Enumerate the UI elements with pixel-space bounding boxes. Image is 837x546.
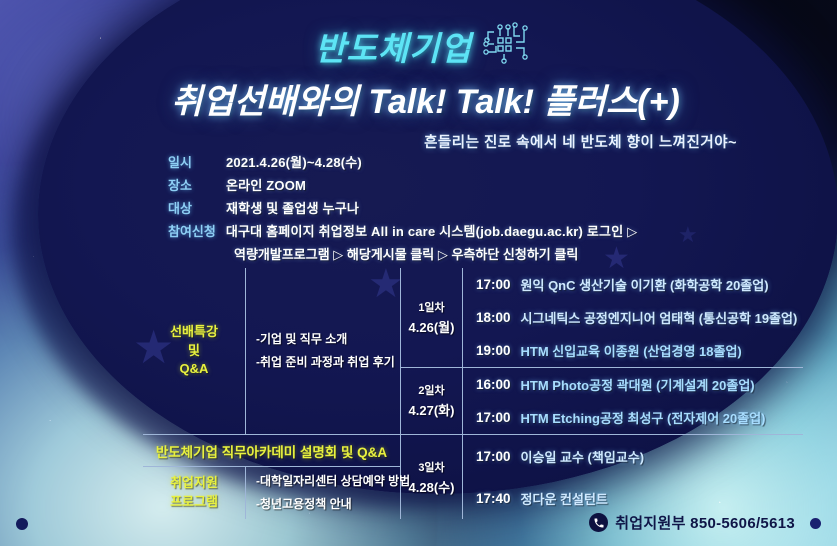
title-block: 반도체기업	[0, 22, 837, 152]
schedule-day3-sessions: 17:00 이승일 교수 (책임교수) 17:40 정다운 컨설턴트	[463, 435, 803, 519]
day-2-number: 2일차	[418, 382, 444, 398]
session-3-desc: HTM 신입교육 이종원 (산업경영 18졸업)	[521, 341, 742, 360]
info-label-audience: 대상	[168, 198, 226, 217]
phone-icon	[589, 513, 608, 532]
info-row-place: 장소 온라인 ZOOM	[168, 175, 808, 194]
day-1-date: 4.26(월)	[409, 317, 455, 336]
session-3-time: 19:00	[476, 343, 511, 358]
session-7-desc: 정다운 컨설턴트	[521, 489, 608, 508]
day-2-date: 4.27(화)	[409, 400, 455, 419]
support-category-cell: 취업지원 프로그램	[143, 467, 246, 519]
schedule-sessions-column: 17:00 원익 QnC 생산기술 이기환 (화학공학 20졸업) 18:00 …	[463, 268, 803, 434]
support-description-cell: -대학일자리센터 상담예약 방법 -청년고용정책 안내	[246, 467, 410, 519]
session-row-2: 18:00 시그네틱스 공정엔지니어 엄태혁 (통신공학 19졸업)	[463, 301, 803, 334]
info-value-audience: 재학생 및 졸업생 누구나	[226, 198, 359, 217]
schedule-category-cell: 선배특강 및 Q&A	[143, 268, 246, 434]
day-cell-2: 2일차 4.27(화)	[401, 367, 462, 433]
category-line-2: 및	[170, 342, 218, 361]
schedule-category-text: 선배특강 및 Q&A	[170, 323, 218, 380]
description-line-1: -기업 및 직무 소개	[256, 328, 400, 351]
info-list: 일시 2021.4.26(월)~4.28(수) 장소 온라인 ZOOM 대상 재…	[168, 152, 808, 263]
day-3-date: 4.28(수)	[409, 477, 455, 496]
support-desc-line-1: -대학일자리센터 상담예약 방법	[256, 470, 410, 493]
schedule-day3-column: 3일차 4.28(수)	[401, 435, 463, 519]
session-row-6: 17:00 이승일 교수 (책임교수)	[463, 435, 803, 477]
academy-title: 반도체기업 직무아카데미 설명회 및 Q&A	[143, 435, 400, 467]
category-line-1: 선배특강	[170, 323, 218, 342]
session-row-4: 16:00 HTM Photo공정 곽대원 (기계설계 20졸업)	[463, 368, 803, 401]
info-row-audience: 대상 재학생 및 졸업생 누구나	[168, 198, 808, 217]
poster-title-line2: 취업선배와의 Talk! Talk! 플러스(+)	[0, 74, 837, 123]
day-3-number: 3일차	[418, 459, 444, 475]
lower-left-group: 반도체기업 직무아카데미 설명회 및 Q&A 취업지원 프로그램 -대학일자리센…	[143, 435, 401, 519]
session-6-time: 17:00	[476, 449, 511, 464]
day-cell-3: 3일차 4.28(수)	[401, 435, 462, 519]
session-5-time: 17:00	[476, 410, 511, 425]
info-apply-continuation: 역량개발프로그램 ▷ 해당게시물 클릭 ▷ 우측하단 신청하기 클릭	[234, 244, 808, 263]
circuit-chip-icon	[480, 22, 532, 66]
poster-subtitle: 흔들리는 진로 속에서 네 반도체 향이 느껴진거야~	[0, 131, 837, 152]
session-7-time: 17:40	[476, 491, 511, 506]
session-row-5: 17:00 HTM Etching공정 최성구 (전자제어 20졸업)	[463, 401, 803, 434]
support-category-line-2: 프로그램	[170, 493, 218, 512]
session-2-time: 18:00	[476, 310, 511, 325]
session-4-desc: HTM Photo공정 곽대원 (기계설계 20졸업)	[521, 375, 755, 394]
poster-content: 반도체기업	[0, 0, 837, 546]
info-label-apply: 참여신청	[168, 221, 216, 240]
decor-dot-left	[16, 518, 28, 530]
support-category-line-1: 취업지원	[170, 474, 218, 493]
session-4-time: 16:00	[476, 377, 511, 392]
info-value-date: 2021.4.26(월)~4.28(수)	[226, 152, 362, 171]
poster-canvas: ★ ★ ★ ★ 반도체기업	[0, 0, 837, 546]
support-program-row: 취업지원 프로그램 -대학일자리센터 상담예약 방법 -청년고용정책 안내	[143, 467, 400, 519]
session-1-desc: 원익 QnC 생산기술 이기환 (화학공학 20졸업)	[521, 275, 769, 294]
description-line-2: -취업 준비 과정과 취업 후기	[256, 351, 400, 374]
info-label-place: 장소	[168, 175, 226, 194]
info-label-date: 일시	[168, 152, 226, 171]
contact-text: 취업지원부 850-5606/5613	[615, 512, 795, 533]
support-desc-line-2: -청년고용정책 안내	[256, 493, 410, 516]
day-cell-1: 1일차 4.26(월)	[401, 268, 462, 367]
poster-title-line1: 반도체기업	[305, 22, 472, 70]
schedule-description-cell: -기업 및 직무 소개 -취업 준비 과정과 취업 후기	[246, 268, 401, 434]
decor-dot-right	[810, 518, 821, 529]
day-1-number: 1일차	[418, 299, 444, 315]
contact-info: 취업지원부 850-5606/5613	[589, 512, 795, 533]
schedule-days-column: 1일차 4.26(월) 2일차 4.27(화)	[401, 268, 463, 434]
title-line1-row: 반도체기업	[0, 22, 837, 70]
schedule-upper-block: 선배특강 및 Q&A -기업 및 직무 소개 -취업 준비 과정과 취업 후기 …	[143, 268, 803, 434]
category-line-3: Q&A	[170, 360, 218, 379]
session-2-desc: 시그네틱스 공정엔지니어 엄태혁 (통신공학 19졸업)	[521, 308, 798, 327]
schedule-table: 선배특강 및 Q&A -기업 및 직무 소개 -취업 준비 과정과 취업 후기 …	[143, 268, 803, 519]
info-row-apply: 참여신청 대구대 홈페이지 취업정보 All in care 시스템(job.d…	[168, 221, 808, 240]
session-row-1: 17:00 원익 QnC 생산기술 이기환 (화학공학 20졸업)	[463, 268, 803, 301]
session-row-3: 19:00 HTM 신입교육 이종원 (산업경영 18졸업)	[463, 334, 803, 367]
info-value-apply: 대구대 홈페이지 취업정보 All in care 시스템(job.daegu.…	[226, 221, 638, 240]
info-value-place: 온라인 ZOOM	[226, 175, 306, 194]
info-row-date: 일시 2021.4.26(월)~4.28(수)	[168, 152, 808, 171]
session-5-desc: HTM Etching공정 최성구 (전자제어 20졸업)	[521, 408, 766, 427]
session-1-time: 17:00	[476, 277, 511, 292]
schedule-lower-block: 반도체기업 직무아카데미 설명회 및 Q&A 취업지원 프로그램 -대학일자리센…	[143, 434, 803, 519]
session-6-desc: 이승일 교수 (책임교수)	[521, 447, 645, 466]
